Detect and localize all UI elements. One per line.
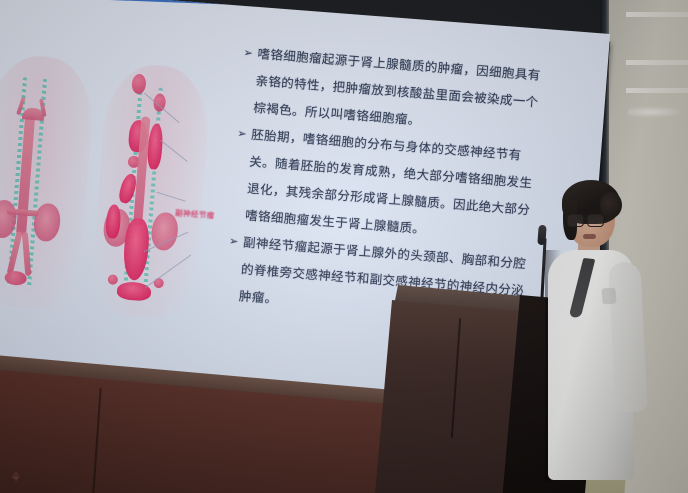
speaker-coat-pocket bbox=[601, 288, 616, 305]
bullet-marker-icon: ➢ bbox=[236, 121, 248, 149]
anatomy-illustration: 副神经节瘤 肾上腺嗜铬细胞瘤和副神经节瘤 （猩红色标记的） bbox=[0, 38, 239, 356]
podium-emblem-icon: ⚘ bbox=[10, 470, 24, 488]
slide-banner: 嗜铬细胞瘤 bbox=[0, 0, 610, 21]
wall-smudge bbox=[628, 106, 684, 118]
speaker-mouth bbox=[583, 234, 596, 239]
bullet-marker-icon: ➢ bbox=[243, 40, 255, 68]
wall-stripe bbox=[626, 88, 688, 93]
lecture-photo-scene: 嗜铬细胞瘤 bbox=[0, 0, 688, 493]
bullet-marker-icon: ➢ bbox=[228, 228, 240, 256]
wall-stripe bbox=[626, 12, 688, 17]
eyeglasses-bridge bbox=[582, 218, 587, 219]
eyeglasses-lens bbox=[587, 214, 604, 227]
eyeglasses-lens bbox=[567, 214, 584, 227]
microphone-icon bbox=[537, 225, 546, 246]
slide-body-text: ➢ 嗜铬细胞瘤起源于肾上腺髓质的肿瘤，因细胞具有亲铬的特性，把肿瘤放到核酸盐里面… bbox=[224, 40, 544, 332]
wall-stripe bbox=[626, 60, 688, 65]
eyeglasses-icon bbox=[567, 214, 607, 226]
